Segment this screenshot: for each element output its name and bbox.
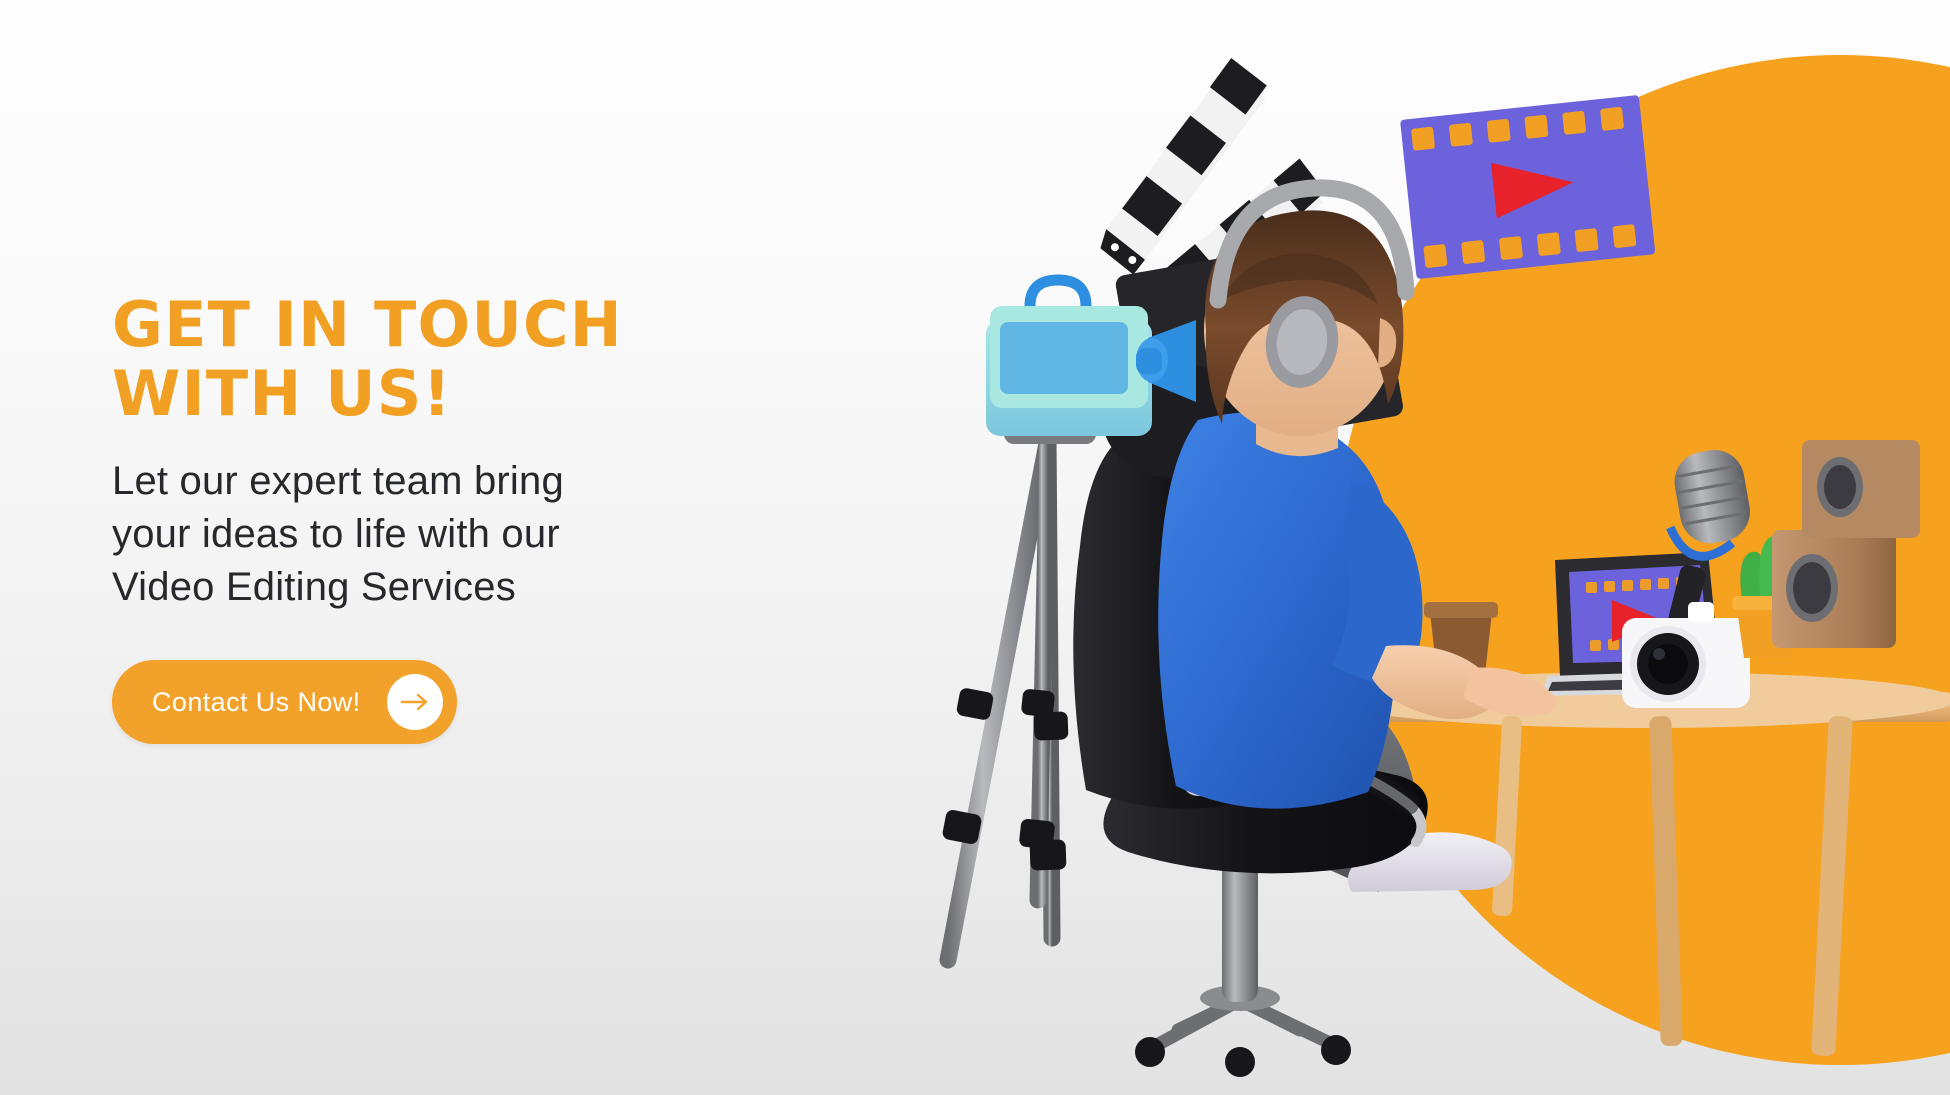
contact-us-button[interactable]: Contact Us Now! [112,660,457,744]
subheadline: Let our expert team bring your ideas to … [112,455,872,615]
arrow-right-icon [387,674,443,730]
promo-banner: GET IN TOUCH WITH US! Let our expert tea… [0,0,1950,1095]
speakers [1772,440,1920,648]
film-strip-icon [1400,95,1655,279]
camera-tripod [941,398,1096,960]
copy-block: GET IN TOUCH WITH US! Let our expert tea… [112,290,872,744]
page-title: GET IN TOUCH WITH US! [112,290,872,429]
cta-label: Contact Us Now! [152,687,361,718]
